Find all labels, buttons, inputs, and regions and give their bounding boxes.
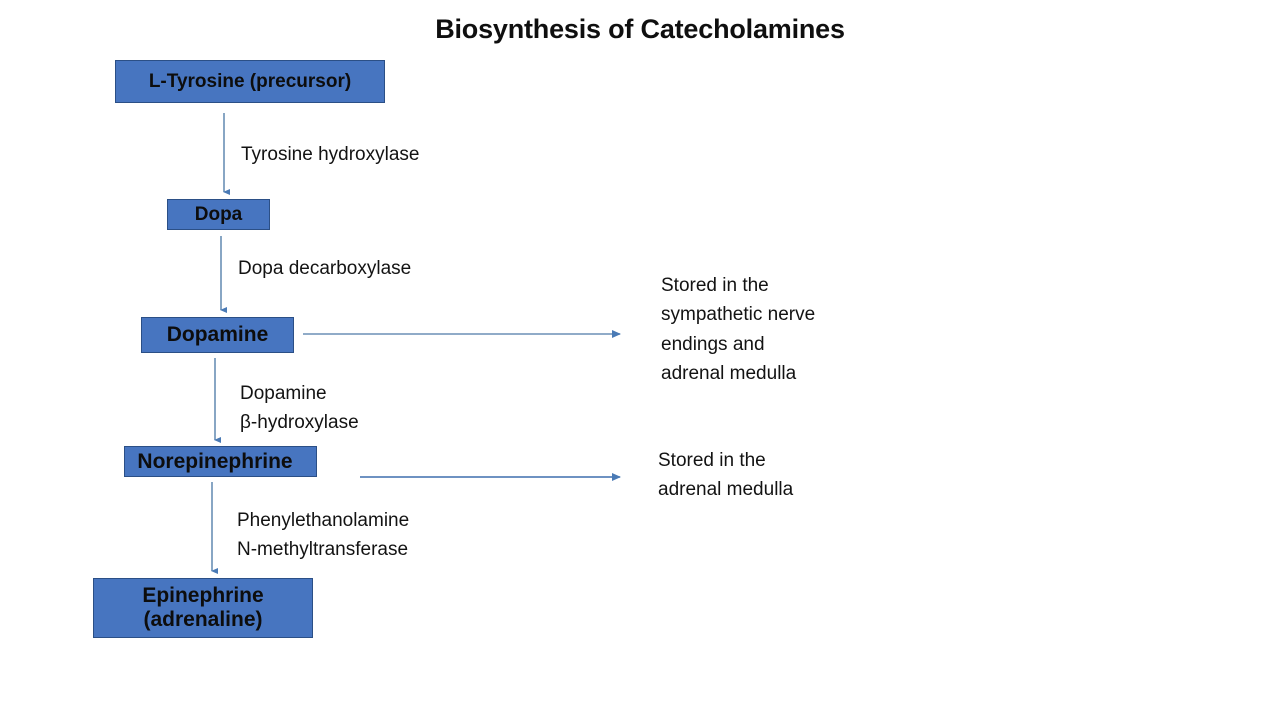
node-norepinephrine-label: Norepinephrine [114, 450, 316, 474]
diagram-canvas: Biosynthesis of Catecholamines [0, 0, 1280, 720]
enzyme-label-dopamine-beta-hydroxylase: Dopamine β-hydroxylase [240, 380, 359, 438]
node-epinephrine-label: Epinephrine (adrenaline) [142, 584, 263, 631]
enzyme-label-tyrosine-hydroxylase: Tyrosine hydroxylase [241, 141, 419, 170]
note-dopamine-storage: Stored in the sympathetic nerve endings … [661, 271, 815, 389]
page-title: Biosynthesis of Catecholamines [0, 14, 1280, 45]
node-dopa[interactable]: Dopa [167, 199, 270, 230]
node-l-tyrosine-label: L-Tyrosine (precursor) [149, 71, 351, 92]
node-dopamine-label: Dopamine [167, 323, 269, 347]
node-norepinephrine[interactable]: Norepinephrine [124, 446, 317, 477]
enzyme-label-phenylethanolamine-n-methyltransferase: Phenylethanolamine N-methyltransferase [237, 507, 409, 565]
node-epinephrine[interactable]: Epinephrine (adrenaline) [93, 578, 313, 638]
note-norepinephrine-storage: Stored in the adrenal medulla [658, 446, 793, 505]
node-l-tyrosine[interactable]: L-Tyrosine (precursor) [115, 60, 385, 103]
enzyme-label-dopa-decarboxylase: Dopa decarboxylase [238, 255, 411, 284]
node-dopa-label: Dopa [195, 204, 243, 225]
node-dopamine[interactable]: Dopamine [141, 317, 294, 353]
